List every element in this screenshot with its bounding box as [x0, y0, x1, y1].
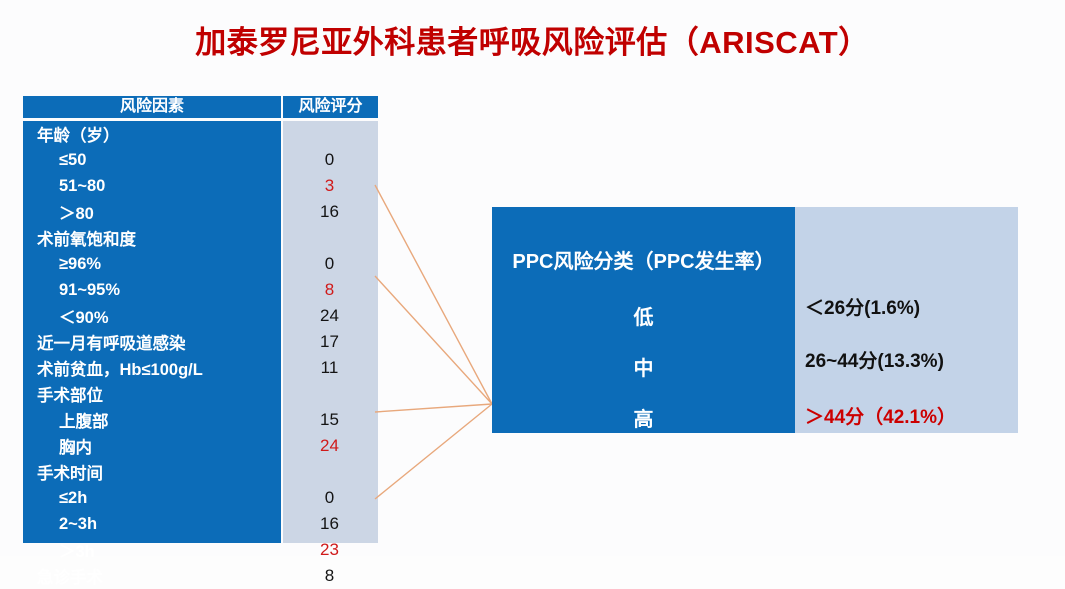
table-header-row: 风险因素 风险评分 [23, 96, 378, 118]
page-title: 加泰罗尼亚外科患者呼吸风险评估（ARISCAT） [0, 17, 1065, 62]
table-row: 急诊手术8 [23, 563, 378, 589]
risk-factor-label: 胸内 [23, 434, 281, 458]
risk-score-value: 15 [281, 410, 378, 430]
table-row: ＞3h23 [23, 537, 378, 563]
ppc-value-medium: 26~44分(13.3%) [805, 346, 1018, 373]
risk-factor-label: 手术部位 [23, 382, 281, 406]
ppc-value-low: ＜26分(1.6%) [805, 293, 1018, 320]
risk-factor-label: 91~95% [23, 281, 281, 300]
risk-score-value: 8 [281, 566, 378, 586]
risk-factor-label: ＞80 [23, 200, 281, 224]
risk-factor-table: 风险因素 风险评分 年龄（岁）≤50051~803＞8016术前氧饱和度≥96%… [23, 96, 378, 543]
table-body: 年龄（岁）≤50051~803＞8016术前氧饱和度≥96%091~95%8＜9… [23, 121, 378, 543]
risk-factor-label: 术前贫血，Hb≤100g/L [23, 356, 281, 380]
table-row: 91~95%8 [23, 277, 378, 303]
risk-factor-label: ≤50 [23, 151, 281, 170]
risk-factor-label: 近一月有呼吸道感染 [23, 330, 281, 354]
risk-factor-label: ≤2h [23, 489, 281, 508]
table-row: 上腹部15 [23, 407, 378, 433]
risk-score-value: 16 [281, 202, 378, 222]
ppc-level-high: 高 [492, 403, 795, 432]
ppc-heading: PPC风险分类（PPC发生率） [492, 245, 795, 274]
ppc-value-high: ＞44分（42.1%） [805, 402, 1018, 429]
risk-score-value: 8 [281, 280, 378, 300]
connector-line-3 [375, 404, 492, 412]
column-header-risk-score: 风险评分 [283, 96, 378, 118]
connector-line-4 [375, 404, 492, 499]
risk-factor-label: 51~80 [23, 177, 281, 196]
risk-score-value: 17 [281, 332, 378, 352]
ppc-level-low: 低 [492, 301, 795, 330]
table-row: ＞8016 [23, 199, 378, 225]
risk-score-value: 24 [281, 436, 378, 456]
risk-score-value: 23 [281, 540, 378, 560]
slide-canvas: 加泰罗尼亚外科患者呼吸风险评估（ARISCAT） 风险因素 风险评分 年龄（岁）… [0, 0, 1065, 556]
ppc-level-medium: 中 [492, 352, 795, 381]
table-row: 手术部位 [23, 381, 378, 407]
risk-factor-label: 术前氧饱和度 [23, 226, 281, 250]
connector-line-2 [375, 276, 492, 404]
table-row: 2~3h16 [23, 511, 378, 537]
connector-line-1 [375, 185, 492, 404]
risk-score-value: 11 [281, 358, 378, 378]
risk-factor-label: ≥96% [23, 255, 281, 274]
ppc-right-panel [795, 207, 1018, 433]
risk-score-value: 0 [281, 150, 378, 170]
table-row: 术前贫血，Hb≤100g/L11 [23, 355, 378, 381]
table-row: 年龄（岁） [23, 121, 378, 147]
ppc-risk-classification-box: PPC风险分类（PPC发生率） 低 中 高 ＜26分(1.6%) 26~44分(… [492, 207, 1018, 433]
table-row: 51~803 [23, 173, 378, 199]
risk-factor-label: 急诊手术 [23, 564, 281, 588]
risk-score-value: 16 [281, 514, 378, 534]
risk-factor-label: 年龄（岁） [23, 122, 281, 146]
table-row: 手术时间 [23, 459, 378, 485]
risk-score-value: 24 [281, 306, 378, 326]
risk-score-value: 0 [281, 488, 378, 508]
risk-score-value: 3 [281, 176, 378, 196]
table-row: 近一月有呼吸道感染17 [23, 329, 378, 355]
table-row: ≤500 [23, 147, 378, 173]
table-row: 术前氧饱和度 [23, 225, 378, 251]
table-row: ≥96%0 [23, 251, 378, 277]
risk-factor-label: 上腹部 [23, 408, 281, 432]
column-header-risk-factor: 风险因素 [23, 96, 281, 118]
table-rows: 年龄（岁）≤50051~803＞8016术前氧饱和度≥96%091~95%8＜9… [23, 121, 378, 589]
table-row: 胸内24 [23, 433, 378, 459]
risk-factor-label: 2~3h [23, 515, 281, 534]
risk-score-value: 0 [281, 254, 378, 274]
risk-factor-label: ＜90% [23, 304, 281, 328]
risk-factor-label: ＞3h [23, 538, 281, 562]
table-row: ＜90%24 [23, 303, 378, 329]
table-row: ≤2h0 [23, 485, 378, 511]
risk-factor-label: 手术时间 [23, 460, 281, 484]
